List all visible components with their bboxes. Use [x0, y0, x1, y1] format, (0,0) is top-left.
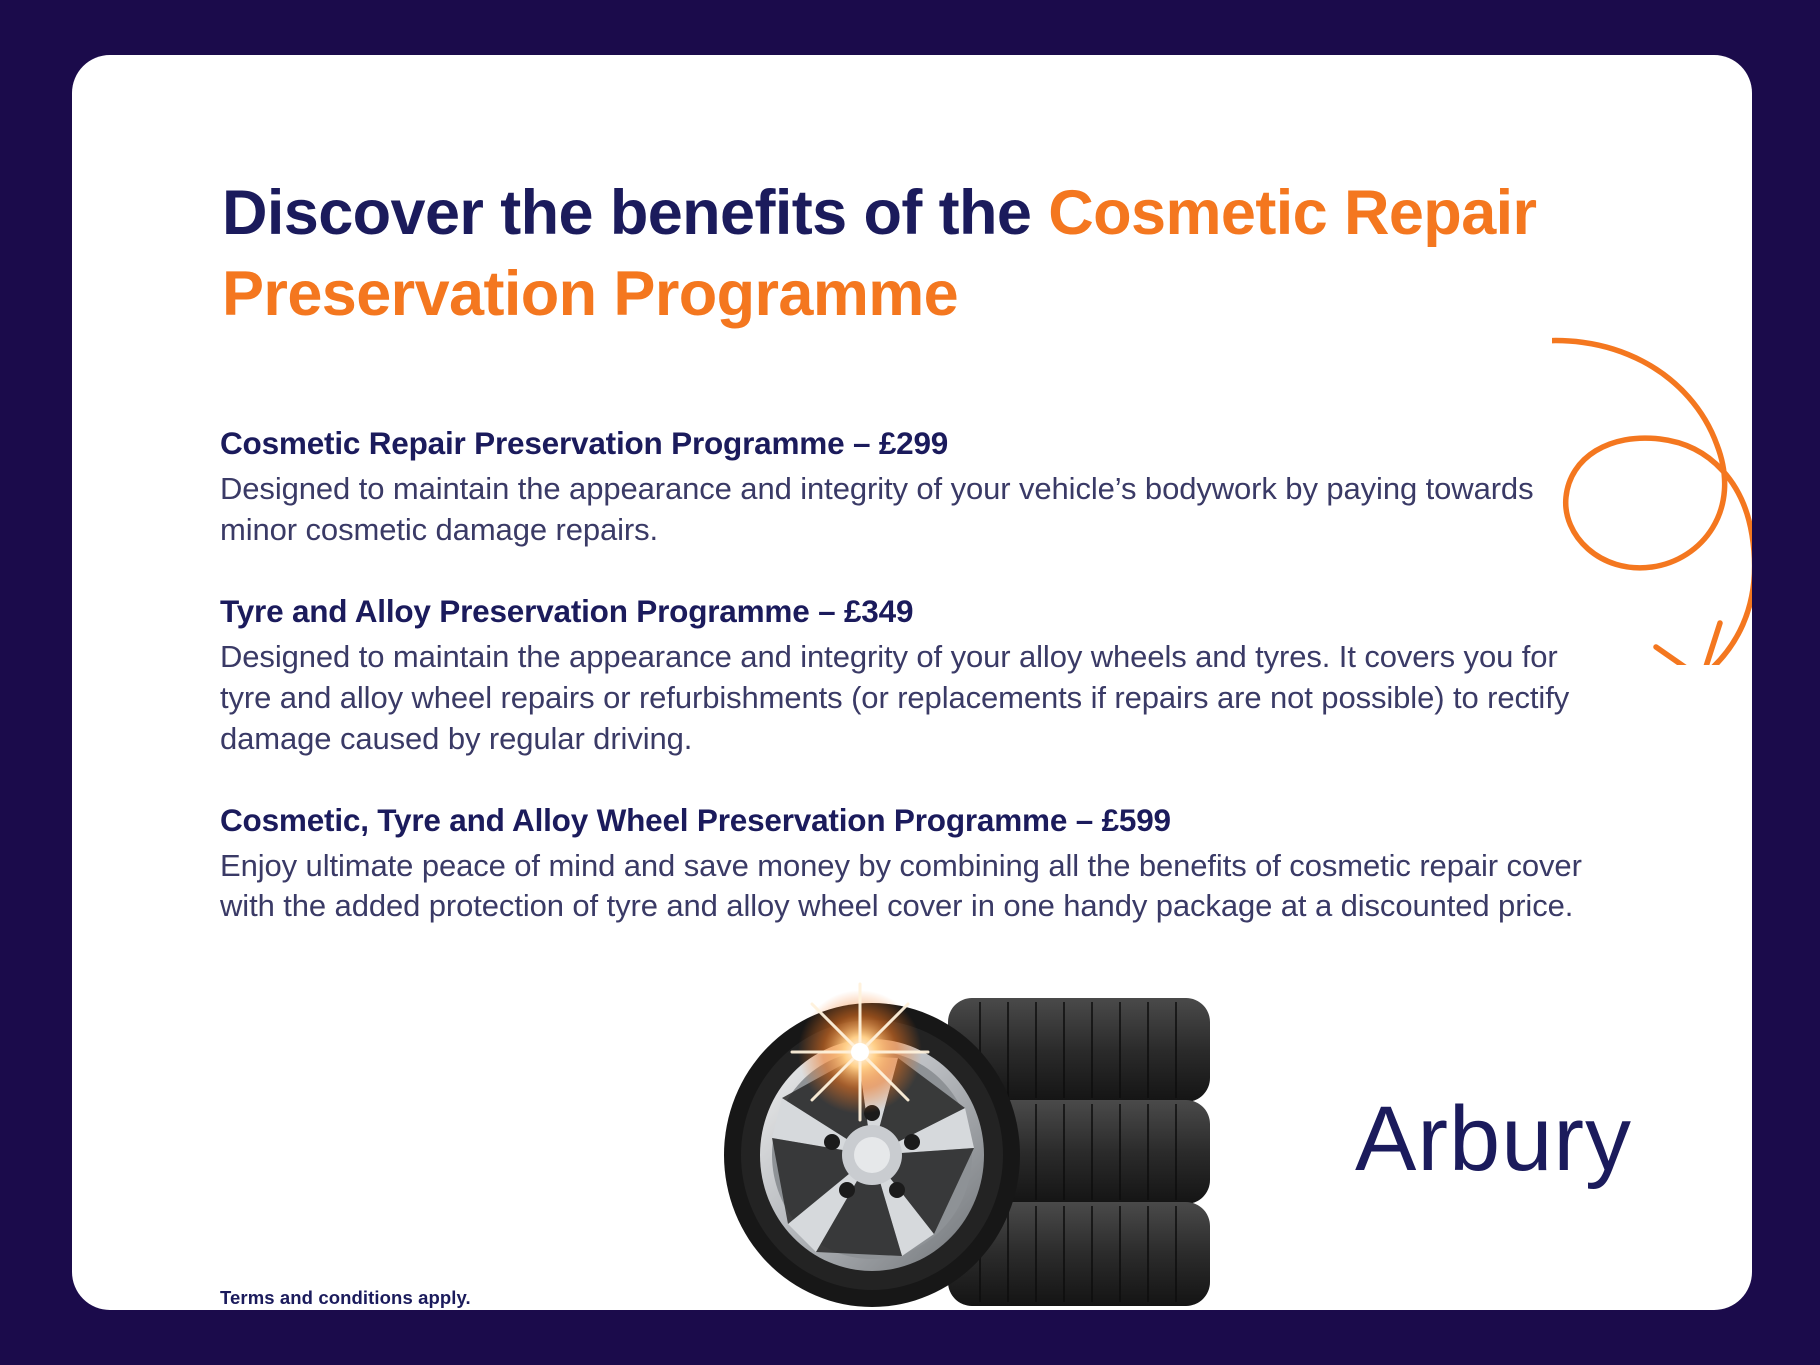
programme-description: Designed to maintain the appearance and … — [220, 469, 1615, 551]
programme-title: Cosmetic, Tyre and Alloy Wheel Preservat… — [220, 802, 1615, 839]
programme-list: Cosmetic Repair Preservation Programme –… — [220, 425, 1615, 927]
programme-title: Tyre and Alloy Preservation Programme – … — [220, 593, 1615, 630]
poster-background: Discover the benefits of the Cosmetic Re… — [0, 0, 1820, 1365]
terms-and-conditions: Terms and conditions apply. — [220, 1287, 471, 1309]
programme-description: Designed to maintain the appearance and … — [220, 637, 1615, 760]
programme-item: Tyre and Alloy Preservation Programme – … — [220, 593, 1615, 760]
arbury-logo: Arbury — [1355, 1093, 1632, 1185]
stacked-tyres-image — [712, 980, 1232, 1310]
programme-description: Enjoy ultimate peace of mind and save mo… — [220, 846, 1615, 928]
programme-item: Cosmetic Repair Preservation Programme –… — [220, 425, 1615, 551]
page-title: Discover the benefits of the Cosmetic Re… — [222, 173, 1582, 334]
headline-lead: Discover the benefits of the — [222, 178, 1048, 248]
programme-item: Cosmetic, Tyre and Alloy Wheel Preservat… — [220, 802, 1615, 928]
sparkle-icon — [792, 984, 928, 1120]
programme-title: Cosmetic Repair Preservation Programme –… — [220, 425, 1615, 462]
promo-card: Discover the benefits of the Cosmetic Re… — [72, 55, 1752, 1310]
